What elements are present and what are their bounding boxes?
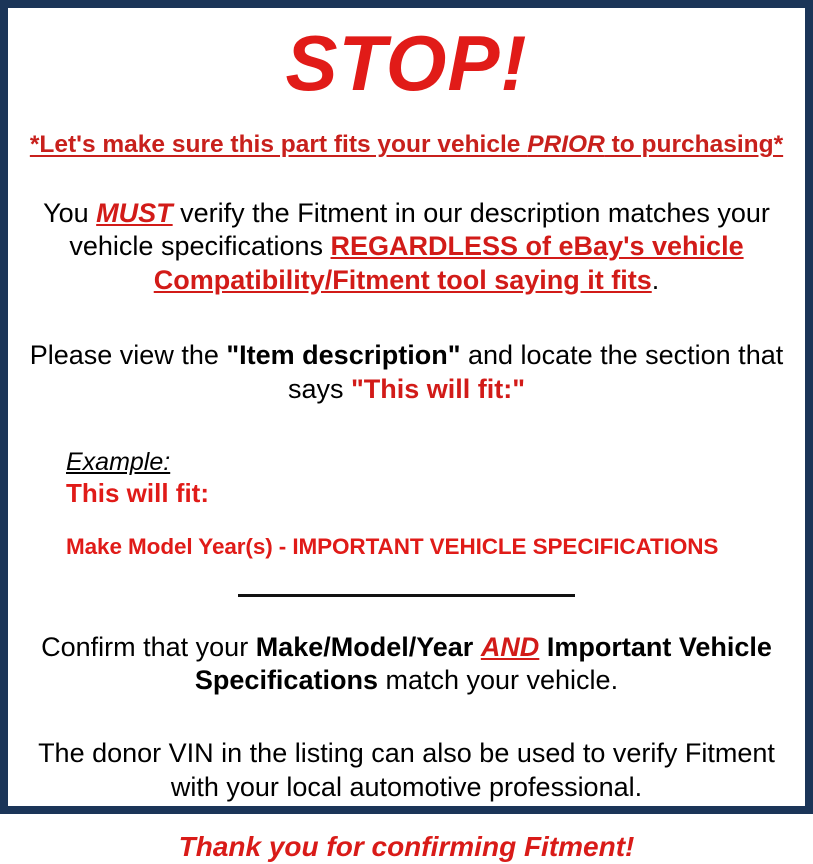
confirm-paragraph-tail: match your vehicle. — [378, 665, 618, 695]
view-paragraph-lead: Please view the — [30, 340, 227, 370]
fitment-warning-notice: STOP! *Let's make sure this part fits yo… — [0, 0, 813, 814]
example-spec-line: Make Model Year(s) - IMPORTANT VEHICLE S… — [66, 534, 795, 560]
notice-content: STOP! *Let's make sure this part fits yo… — [8, 24, 805, 822]
stop-headline: STOP! — [18, 24, 795, 102]
horizontal-divider — [238, 594, 575, 597]
must-paragraph-lead: You — [43, 198, 96, 228]
subtitle-part-1: *Let's make sure this part fits your veh… — [30, 131, 527, 158]
donor-vin-paragraph: The donor VIN in the listing can also be… — [18, 737, 795, 804]
example-fit-heading: This will fit: — [66, 478, 795, 508]
subtitle-prior-emphasis: PRIOR — [527, 131, 605, 158]
this-will-fit-quote: "This will fit:" — [351, 374, 525, 404]
must-verify-paragraph: You MUST verify the Fitment in our descr… — [18, 197, 795, 297]
example-block: Example: This will fit: Make Model Year(… — [18, 448, 795, 560]
item-description-paragraph: Please view the "Item description" and l… — [18, 339, 795, 406]
example-label: Example: — [66, 448, 795, 477]
thank-you-line: Thank you for confirming Fitment! — [18, 830, 795, 864]
item-description-quote: "Item description" — [226, 340, 460, 370]
and-emphasis: AND — [481, 632, 540, 662]
must-paragraph-tail: . — [652, 265, 660, 295]
divider-wrapper — [18, 587, 795, 605]
subtitle-part-2: to purchasing* — [605, 131, 783, 158]
subtitle-line: *Let's make sure this part fits your veh… — [18, 132, 795, 159]
make-model-year-emphasis: Make/Model/Year — [256, 632, 474, 662]
confirm-paragraph-lead: Confirm that your — [41, 632, 256, 662]
confirm-paragraph: Confirm that your Make/Model/Year AND Im… — [18, 631, 795, 698]
must-emphasis: MUST — [96, 198, 173, 228]
